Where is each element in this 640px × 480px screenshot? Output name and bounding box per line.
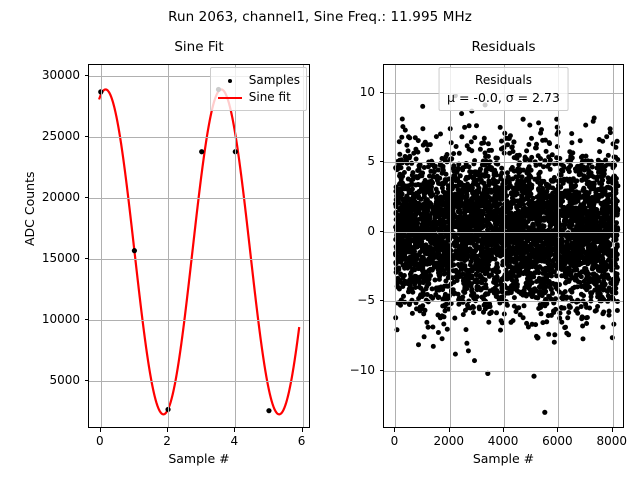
residual-point xyxy=(523,245,528,250)
residual-point xyxy=(396,166,401,171)
residual-point xyxy=(510,250,515,255)
y-tickmark xyxy=(380,231,384,232)
legend-entry-sine-fit: Sine fit xyxy=(217,89,300,106)
residual-point xyxy=(583,205,588,210)
residual-point xyxy=(544,278,549,283)
residual-point xyxy=(434,288,439,293)
residual-point xyxy=(552,340,557,345)
residual-point xyxy=(551,258,556,263)
y-gridline xyxy=(89,381,309,382)
residual-point xyxy=(534,163,539,168)
residual-point xyxy=(439,267,444,272)
residual-point xyxy=(420,126,425,131)
y-gridline xyxy=(89,259,309,260)
legend-label-sine-fit: Sine fit xyxy=(249,89,291,106)
residual-point xyxy=(605,211,610,216)
residual-point xyxy=(460,167,465,172)
x-gridline xyxy=(395,65,396,427)
residual-point xyxy=(484,243,489,248)
residual-point xyxy=(511,238,516,243)
residual-point xyxy=(534,233,539,238)
residual-point xyxy=(458,250,463,255)
residual-point xyxy=(443,177,448,182)
residual-point xyxy=(531,224,536,229)
residual-point xyxy=(441,189,446,194)
residual-point xyxy=(571,263,576,268)
y-tickmark xyxy=(85,258,89,259)
residual-point xyxy=(407,220,412,225)
residual-point xyxy=(615,265,620,270)
residual-point xyxy=(524,191,529,196)
residual-point xyxy=(406,289,411,294)
residual-point xyxy=(424,286,429,291)
residual-point xyxy=(459,238,464,243)
residual-point xyxy=(488,304,493,309)
residual-point xyxy=(483,184,488,189)
residual-point xyxy=(497,201,502,206)
y-tickmark xyxy=(85,380,89,381)
residual-point xyxy=(584,260,589,265)
y-tickmark xyxy=(380,92,384,93)
residual-point xyxy=(425,292,430,297)
residual-point xyxy=(398,303,403,308)
residual-point xyxy=(567,149,572,154)
residual-point xyxy=(400,124,405,129)
residuals-plot-area xyxy=(384,65,623,427)
residual-point xyxy=(583,123,588,128)
residual-point xyxy=(441,244,446,249)
residual-point xyxy=(607,222,612,227)
residual-point xyxy=(586,180,591,185)
residual-point xyxy=(565,188,570,193)
residual-point xyxy=(474,244,479,249)
residual-point xyxy=(582,193,587,198)
residual-point xyxy=(493,215,498,220)
residual-point xyxy=(459,203,464,208)
residual-point xyxy=(551,281,556,286)
residual-point xyxy=(485,220,490,225)
residual-point xyxy=(569,199,574,204)
residual-point xyxy=(605,273,610,278)
residual-point xyxy=(524,208,529,213)
residual-point xyxy=(508,210,513,215)
residual-point xyxy=(414,204,419,209)
residual-point xyxy=(468,214,473,219)
residual-point xyxy=(601,215,606,220)
residual-point xyxy=(588,290,593,295)
residual-point xyxy=(429,247,434,252)
residual-point xyxy=(398,272,403,277)
residual-point xyxy=(574,273,579,278)
residual-point xyxy=(438,211,443,216)
residual-point xyxy=(523,250,528,255)
residual-point xyxy=(580,154,585,159)
residual-point xyxy=(560,199,565,204)
x-ticklabel: 8000 xyxy=(596,434,627,448)
sine-fit-plot-area xyxy=(89,65,309,427)
residual-point xyxy=(459,134,464,139)
residual-point xyxy=(511,201,516,206)
residual-point xyxy=(585,315,590,320)
sine-fit-ylabel: ADC Counts xyxy=(22,171,37,246)
residual-point xyxy=(452,192,457,197)
residual-point xyxy=(550,186,555,191)
residual-point xyxy=(475,189,480,194)
residual-point xyxy=(414,157,419,162)
residual-point xyxy=(409,238,414,243)
residuals-legend-title: Residuals xyxy=(475,72,532,89)
residual-point xyxy=(416,342,421,347)
residual-point xyxy=(508,133,513,138)
legend-entry-samples: Samples xyxy=(217,72,300,89)
residual-point xyxy=(428,142,433,147)
sine-fit-title: Sine Fit xyxy=(88,39,310,55)
residual-point xyxy=(473,248,478,253)
residual-point xyxy=(563,281,568,286)
residual-point xyxy=(453,249,458,254)
residual-point xyxy=(579,316,584,321)
residual-point xyxy=(422,334,427,339)
residual-point xyxy=(422,222,427,227)
residual-point xyxy=(451,151,456,156)
residual-point xyxy=(531,215,536,220)
sine-fit-curve-layer xyxy=(89,65,309,427)
residual-point xyxy=(480,268,485,273)
residual-point xyxy=(481,286,486,291)
residual-point xyxy=(481,310,486,315)
residual-point xyxy=(600,325,605,330)
y-gridline xyxy=(384,232,623,233)
residual-point xyxy=(528,288,533,293)
residual-point xyxy=(559,173,564,178)
residual-point xyxy=(595,166,600,171)
residual-point xyxy=(534,142,539,147)
residual-point xyxy=(602,200,607,205)
residual-point xyxy=(511,193,516,198)
residual-point xyxy=(559,305,564,310)
residuals-stats-text: μ = -0.0, σ = 2.73 xyxy=(447,89,560,106)
residual-point xyxy=(511,318,516,323)
residual-point xyxy=(594,207,599,212)
residual-point xyxy=(591,184,596,189)
residual-point xyxy=(526,172,531,177)
x-ticklabel: 4000 xyxy=(488,434,519,448)
residual-point xyxy=(408,188,413,193)
residual-point xyxy=(570,244,575,249)
x-tickmark xyxy=(612,428,613,432)
residual-point xyxy=(588,215,593,220)
residual-point xyxy=(430,205,435,210)
y-ticklabel: 20000 xyxy=(0,190,80,204)
residual-point xyxy=(476,285,481,290)
residual-point xyxy=(414,218,419,223)
residual-point xyxy=(538,156,543,161)
residual-point xyxy=(410,177,415,182)
residual-point xyxy=(513,174,518,179)
sine-fit-axes: Samples Sine fit xyxy=(88,64,310,428)
residual-point xyxy=(464,204,469,209)
residual-point xyxy=(413,214,418,219)
residual-point xyxy=(599,210,604,215)
residual-point xyxy=(596,268,601,273)
residual-point xyxy=(579,304,584,309)
residual-point xyxy=(561,181,566,186)
residual-point xyxy=(498,211,503,216)
x-ticklabel: 6000 xyxy=(542,434,573,448)
y-tickmark xyxy=(380,161,384,162)
residual-point xyxy=(615,242,620,247)
residual-point xyxy=(519,197,524,202)
residual-point xyxy=(458,194,463,199)
residual-point xyxy=(468,259,473,264)
residual-point xyxy=(452,203,457,208)
residual-point xyxy=(505,142,510,147)
residual-point xyxy=(566,266,571,271)
residual-point xyxy=(567,305,572,310)
residual-point xyxy=(410,182,415,187)
residual-point xyxy=(516,224,521,229)
residual-point xyxy=(579,292,584,297)
residual-point xyxy=(444,263,449,268)
residual-point xyxy=(583,267,588,272)
y-tickmark xyxy=(380,300,384,301)
x-ticklabel: 2000 xyxy=(433,434,464,448)
residual-point xyxy=(477,305,482,310)
residual-point xyxy=(462,185,467,190)
sample-point xyxy=(199,149,204,154)
residual-point xyxy=(423,202,428,207)
residual-point xyxy=(452,316,457,321)
residual-point xyxy=(566,212,571,217)
residual-point xyxy=(467,123,472,128)
y-tickmark xyxy=(85,75,89,76)
residual-point xyxy=(450,218,455,223)
residual-point xyxy=(578,138,583,143)
residual-point xyxy=(417,308,422,313)
residual-point xyxy=(484,170,489,175)
residual-point xyxy=(511,140,516,145)
x-gridline xyxy=(558,65,559,427)
residual-point xyxy=(505,224,510,229)
residual-point xyxy=(458,273,463,278)
residual-point xyxy=(410,267,415,272)
residual-point xyxy=(438,315,443,320)
residual-point xyxy=(436,220,441,225)
residual-point xyxy=(546,268,551,273)
residual-point xyxy=(565,315,570,320)
residual-point xyxy=(546,294,551,299)
residual-point xyxy=(455,278,460,283)
residual-point xyxy=(480,251,485,256)
residual-point xyxy=(533,322,538,327)
residual-point xyxy=(515,153,520,158)
y-ticklabel: 0 xyxy=(283,224,375,238)
residual-point xyxy=(515,306,520,311)
residual-point xyxy=(599,260,604,265)
residual-outlier-point xyxy=(531,374,536,379)
x-tickmark xyxy=(449,428,450,432)
residual-point xyxy=(570,155,575,160)
residual-point xyxy=(469,284,474,289)
residual-point xyxy=(536,213,541,218)
residual-point xyxy=(603,282,608,287)
residual-point xyxy=(607,253,612,258)
residual-point xyxy=(562,262,567,267)
residual-point xyxy=(406,177,411,182)
y-gridline xyxy=(89,198,309,199)
residual-point xyxy=(480,192,485,197)
residual-point xyxy=(438,258,443,263)
residual-point xyxy=(536,255,541,260)
residual-point xyxy=(443,279,448,284)
residual-point xyxy=(406,233,411,238)
residual-point xyxy=(415,244,420,249)
residual-point xyxy=(453,352,458,357)
residual-point xyxy=(436,295,441,300)
residual-point xyxy=(444,172,449,177)
legend-label-samples: Samples xyxy=(249,72,300,89)
residual-point xyxy=(591,266,596,271)
residual-point xyxy=(570,220,575,225)
residual-point xyxy=(495,252,500,257)
residual-point xyxy=(437,244,442,249)
residual-point xyxy=(479,214,484,219)
residual-point xyxy=(416,266,421,271)
residual-point xyxy=(587,306,592,311)
y-ticklabel: 5 xyxy=(283,154,375,168)
residual-point xyxy=(512,295,517,300)
residual-point xyxy=(498,125,503,130)
sine-fit-xlabel: Sample # xyxy=(88,451,310,466)
residual-point xyxy=(401,252,406,257)
residual-point xyxy=(586,168,591,173)
sine-fit-legend: Samples Sine fit xyxy=(210,67,307,111)
residual-point xyxy=(553,307,558,312)
residual-point xyxy=(432,165,437,170)
y-gridline xyxy=(89,320,309,321)
residual-point xyxy=(418,258,423,263)
residual-point xyxy=(537,193,542,198)
residual-point xyxy=(580,247,585,252)
residual-point xyxy=(484,255,489,260)
residual-point xyxy=(406,148,411,153)
residual-point xyxy=(430,174,435,179)
residual-point xyxy=(461,289,466,294)
residual-point xyxy=(563,275,568,280)
residual-point xyxy=(541,179,546,184)
residual-point xyxy=(462,264,467,269)
residual-point xyxy=(441,202,446,207)
residual-point xyxy=(410,170,415,175)
residual-point xyxy=(398,220,403,225)
residual-point xyxy=(400,181,405,186)
residual-point xyxy=(436,330,441,335)
residual-point xyxy=(568,163,573,168)
residual-point xyxy=(430,286,435,291)
residual-point xyxy=(479,295,484,300)
residual-point xyxy=(463,284,468,289)
residual-point xyxy=(528,254,533,259)
residual-point xyxy=(457,151,462,156)
residual-point xyxy=(494,310,499,315)
residual-point xyxy=(525,196,530,201)
residual-point xyxy=(526,234,531,239)
residual-point xyxy=(428,237,433,242)
residual-point xyxy=(409,279,414,284)
y-gridline xyxy=(89,137,309,138)
residual-point xyxy=(472,358,477,363)
residual-point xyxy=(493,193,498,198)
residual-point xyxy=(458,257,463,262)
residual-point xyxy=(470,175,475,180)
residual-point xyxy=(491,250,496,255)
residual-point xyxy=(470,185,475,190)
residual-point xyxy=(410,311,415,316)
residual-point xyxy=(530,247,535,252)
residual-point xyxy=(614,276,619,281)
residual-point xyxy=(584,277,589,282)
residual-point xyxy=(490,256,495,261)
residual-point xyxy=(414,279,419,284)
residual-point xyxy=(592,258,597,263)
residual-point xyxy=(538,238,543,243)
residual-point xyxy=(473,201,478,206)
y-ticklabel: −10 xyxy=(283,363,375,377)
residual-point xyxy=(514,260,519,265)
residual-point xyxy=(568,254,573,259)
residual-point xyxy=(440,336,445,341)
residual-point xyxy=(459,111,464,116)
residual-point xyxy=(480,209,485,214)
residual-point xyxy=(516,170,521,175)
residual-point xyxy=(435,190,440,195)
residual-point xyxy=(524,292,529,297)
residual-point xyxy=(581,186,586,191)
residual-point xyxy=(471,310,476,315)
residual-point xyxy=(431,220,436,225)
residual-point xyxy=(586,199,591,204)
residual-point xyxy=(498,176,503,181)
y-gridline xyxy=(384,301,623,302)
residual-point xyxy=(476,239,481,244)
residual-point xyxy=(544,241,549,246)
residual-point xyxy=(532,270,537,275)
residual-point xyxy=(478,167,483,172)
residual-point xyxy=(592,244,597,249)
residual-point xyxy=(396,215,401,220)
residual-point xyxy=(591,250,596,255)
residual-point xyxy=(552,332,557,337)
residual-point xyxy=(605,196,610,201)
residual-point xyxy=(517,265,522,270)
residual-point xyxy=(461,312,466,317)
residual-point xyxy=(450,275,455,280)
residual-point xyxy=(481,260,486,265)
residual-point xyxy=(602,220,607,225)
residual-point xyxy=(420,247,425,252)
residual-point xyxy=(524,268,529,273)
residual-point xyxy=(483,154,488,159)
residual-point xyxy=(603,189,608,194)
residual-point xyxy=(398,175,403,180)
x-gridline xyxy=(168,65,169,427)
residual-point xyxy=(468,306,473,311)
x-tickmark xyxy=(302,428,303,432)
residual-point xyxy=(439,196,444,201)
residual-point xyxy=(467,169,472,174)
y-ticklabel: 30000 xyxy=(0,68,80,82)
y-tickmark xyxy=(85,197,89,198)
